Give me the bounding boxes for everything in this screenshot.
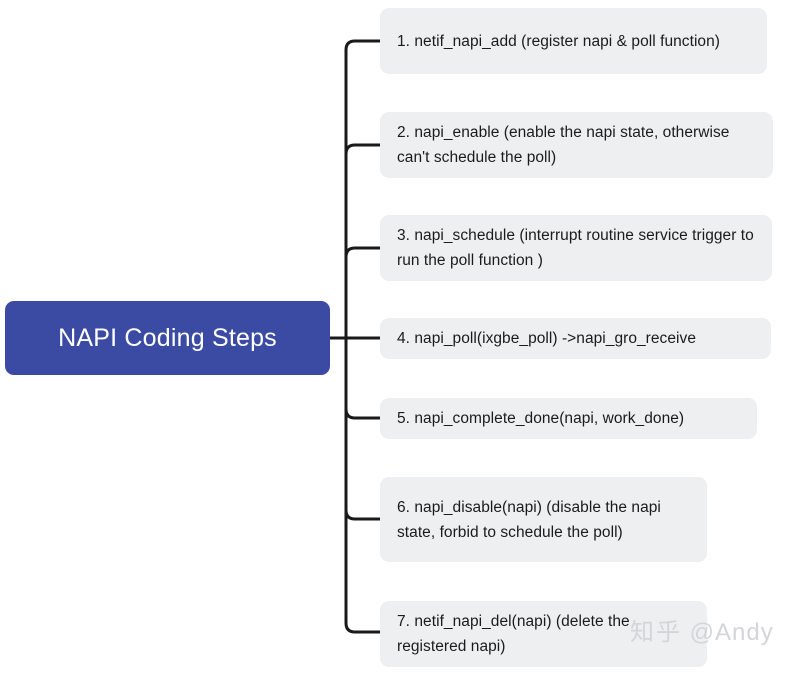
connector-branch-2 — [346, 145, 380, 154]
branch-node-6[interactable]: 6. napi_disable(napi) (disable the napi … — [380, 477, 707, 562]
watermark-handle: @Andy — [690, 619, 774, 646]
branch-node-1[interactable]: 1. netif_napi_add (register napi & poll … — [380, 8, 767, 74]
watermark-site: 知乎 — [630, 619, 682, 646]
root-node[interactable]: NAPI Coding Steps — [5, 301, 330, 375]
branch-node-2[interactable]: 2. napi_enable (enable the napi state, o… — [380, 112, 773, 178]
connector-branch-7 — [346, 623, 380, 632]
branch-node-4[interactable]: 4. napi_poll(ixgbe_poll) ->napi_gro_rece… — [380, 318, 771, 359]
root-node-label: NAPI Coding Steps — [58, 323, 277, 353]
branch-node-4-label: 4. napi_poll(ixgbe_poll) ->napi_gro_rece… — [380, 326, 771, 351]
mindmap-canvas: NAPI Coding Steps 1. netif_napi_add (reg… — [0, 0, 788, 674]
branch-node-2-label: 2. napi_enable (enable the napi state, o… — [380, 120, 773, 170]
branch-node-5[interactable]: 5. napi_complete_done(napi, work_done) — [380, 398, 757, 439]
connector-branch-5 — [346, 409, 380, 418]
branch-node-5-label: 5. napi_complete_done(napi, work_done) — [380, 406, 757, 431]
branch-node-3[interactable]: 3. napi_schedule (interrupt routine serv… — [380, 215, 772, 281]
connector-branch-6 — [346, 510, 380, 519]
branch-node-1-label: 1. netif_napi_add (register napi & poll … — [380, 29, 767, 54]
connector-branch-3 — [346, 248, 380, 257]
connector-branch-1 — [346, 41, 380, 50]
branch-node-3-label: 3. napi_schedule (interrupt routine serv… — [380, 223, 772, 273]
branch-node-6-label: 6. napi_disable(napi) (disable the napi … — [380, 495, 707, 545]
watermark: 知乎 @Andy — [630, 618, 774, 648]
